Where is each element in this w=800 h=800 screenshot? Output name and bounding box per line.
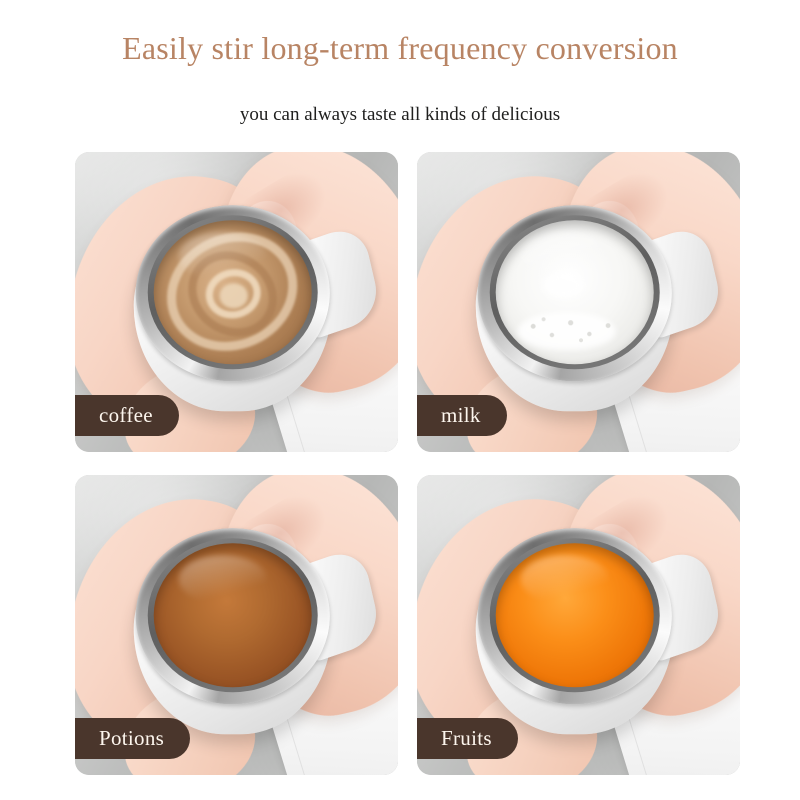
self-stirring-mug: [467, 522, 681, 736]
self-stirring-mug: [125, 199, 339, 413]
panel-label-potions: Potions: [75, 718, 190, 759]
panel-label-coffee: coffee: [75, 395, 179, 436]
liquid-gloss: [520, 555, 608, 604]
gallery-panel-fruits[interactable]: Fruits: [417, 475, 740, 775]
beverage-gallery-grid: coffee: [75, 152, 740, 775]
self-stirring-mug: [125, 522, 339, 736]
liquid-gloss: [520, 232, 608, 281]
panel-label-fruits: Fruits: [417, 718, 518, 759]
liquid-coffee: [153, 220, 311, 364]
milk-bubbles: [520, 312, 624, 347]
liquid-gloss: [178, 555, 266, 604]
gallery-panel-milk[interactable]: milk: [417, 152, 740, 452]
liquid-gloss: [178, 232, 266, 281]
product-feature-page: Easily stir long-term frequency conversi…: [0, 0, 800, 800]
page-headline: Easily stir long-term frequency conversi…: [0, 30, 800, 67]
crema-swirl-core: [220, 284, 248, 308]
liquid-tea: [153, 543, 311, 687]
self-stirring-mug: [467, 199, 681, 413]
panel-label-milk: milk: [417, 395, 507, 436]
liquid-juice: [495, 543, 653, 687]
gallery-panel-potions[interactable]: Potions: [75, 475, 398, 775]
page-subheadline: you can always taste all kinds of delici…: [0, 104, 800, 126]
liquid-milk: [495, 220, 653, 364]
gallery-panel-coffee[interactable]: coffee: [75, 152, 398, 452]
